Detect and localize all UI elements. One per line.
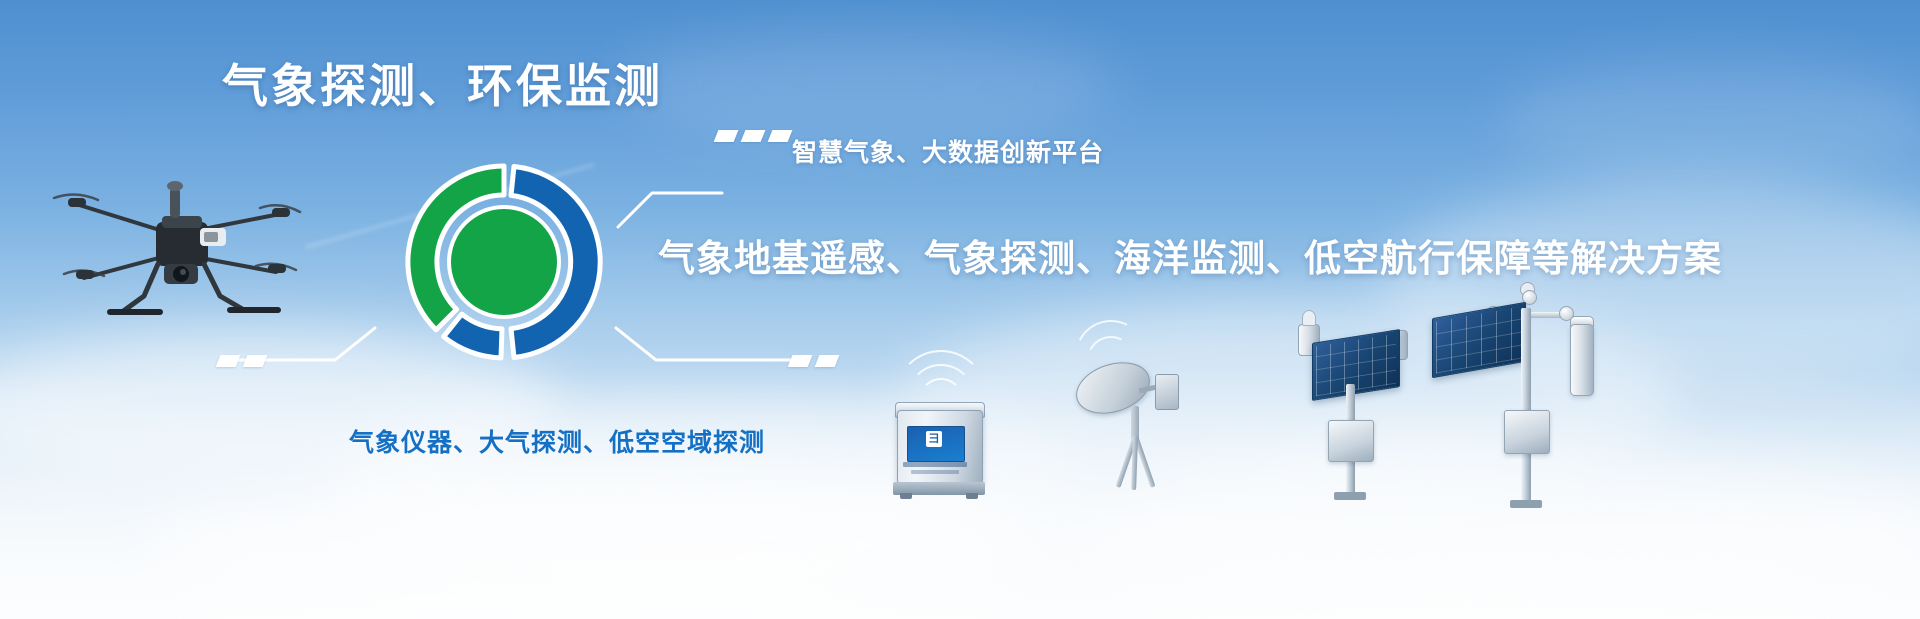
donut-segment-blue-lower — [444, 314, 502, 358]
donut-ring-diagram — [394, 152, 614, 372]
accent-dash — [768, 130, 793, 142]
donut-inner-disc — [449, 207, 559, 317]
accent-dash — [815, 355, 840, 367]
satellite-dish-photo — [1075, 352, 1195, 492]
tripod-leg — [1131, 436, 1138, 490]
controller-box — [1504, 410, 1550, 454]
accent-dash — [243, 355, 268, 367]
banner-root: 气象探测、环保监测 — [0, 0, 1920, 619]
accent-dashes-bottom-left — [218, 355, 265, 367]
cloud-decoration — [1500, 60, 1920, 180]
label-instruments: 气象仪器、大气探测、低空空域探测 — [349, 423, 765, 459]
drone-photo — [48, 160, 308, 340]
accent-dash — [216, 355, 241, 367]
accent-dash — [788, 355, 813, 367]
station-foot — [900, 493, 912, 499]
solar-panel — [1432, 302, 1526, 379]
dish-electronics-box — [1155, 374, 1179, 410]
accent-dashes-bottom-right — [790, 355, 837, 367]
rain-gauge-cylinder — [1570, 324, 1594, 396]
cloud-decoration — [620, 30, 1120, 140]
radiation-shield-sensor — [1302, 310, 1316, 326]
station-base — [1510, 500, 1542, 508]
accent-dash — [714, 130, 739, 142]
controller-box — [1328, 420, 1374, 462]
solar-weather-station-a-photo — [1276, 300, 1426, 500]
connector-line-top — [610, 135, 730, 235]
station-model-line — [911, 470, 959, 474]
accent-dash — [741, 130, 766, 142]
station-logo: 彐 — [926, 431, 942, 447]
accent-dashes-top — [716, 130, 790, 142]
ground-station-photo: 彐 — [893, 396, 985, 498]
station-foot — [966, 493, 978, 499]
page-title: 气象探测、环保监测 — [222, 50, 663, 116]
solar-panel-grid — [1316, 334, 1396, 397]
station-mast — [1521, 308, 1531, 508]
label-smart-meteorology: 智慧气象、大数据创新平台 — [792, 133, 1104, 169]
station-label-line — [903, 462, 967, 467]
solar-weather-station-b-photo — [1420, 268, 1610, 508]
station-base — [1334, 492, 1366, 500]
solar-panel — [1312, 329, 1400, 401]
solar-panel-grid — [1436, 306, 1522, 373]
